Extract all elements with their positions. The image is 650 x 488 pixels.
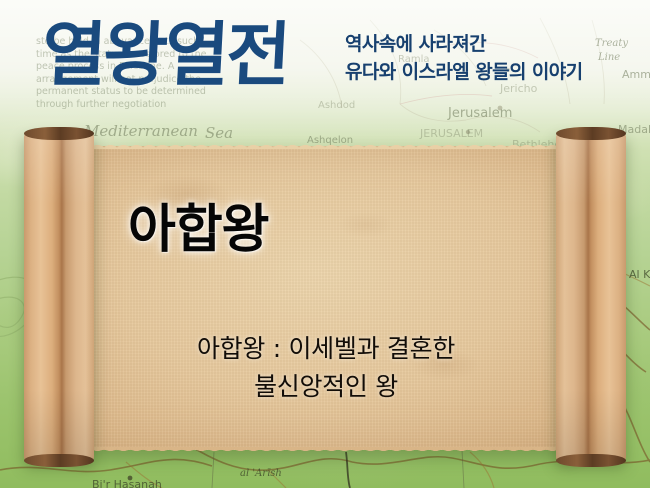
- program-subtitle: 역사속에 사라져간 유다와 이스라엘 왕들의 이야기: [345, 30, 583, 86]
- paper-torn-bottom-edge: [78, 447, 574, 454]
- scroll-roll-left: [24, 132, 94, 462]
- subtitle-line-2: 유다와 이스라엘 왕들의 이야기: [345, 58, 583, 86]
- subtitle-line-1: 역사속에 사라져간: [345, 30, 583, 58]
- scroll-roll-right-sheen: [556, 132, 626, 462]
- body-line-1: 아합왕 : 이세벨과 결혼한: [78, 330, 574, 368]
- scroll-roll-right: [556, 132, 626, 462]
- slide-body-text: 아합왕 : 이세벨과 결혼한 불신앙적인 왕: [78, 330, 574, 406]
- scroll-roll-right-cap-bottom: [556, 454, 626, 467]
- program-logo-title: 열왕열전: [40, 20, 289, 90]
- slide-heading: 아합왕: [128, 204, 269, 256]
- scroll-roll-right-cap-top: [556, 127, 626, 140]
- body-line-2: 불신앙적인 왕: [78, 368, 574, 406]
- scroll-graphic: 아합왕 아합왕 : 이세벨과 결혼한 불신앙적인 왕: [0, 132, 650, 468]
- presentation-slide: sto be held in abeyance until such time …: [0, 0, 650, 488]
- paper-torn-top-edge: [78, 142, 574, 149]
- scroll-roll-left-cap-bottom: [24, 454, 94, 467]
- scroll-roll-left-sheen: [24, 132, 94, 462]
- scroll-roll-left-cap-top: [24, 127, 94, 140]
